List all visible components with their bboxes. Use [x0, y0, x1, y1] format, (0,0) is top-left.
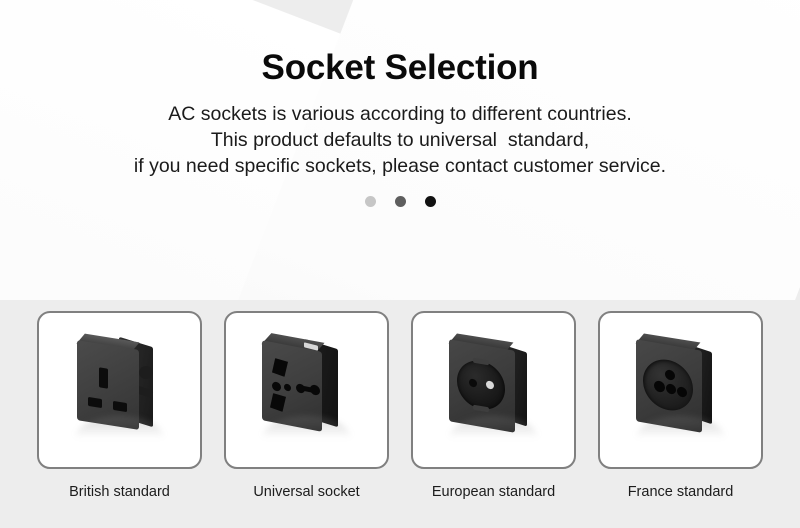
- schuko-socket-icon: [435, 332, 553, 444]
- socket-option-universal[interactable]: Universal socket: [224, 311, 389, 500]
- uk-socket-icon: [61, 332, 179, 444]
- socket-option-france[interactable]: France standard: [598, 311, 763, 500]
- socket-image-stage-france: [600, 313, 761, 467]
- france-socket-icon: [622, 332, 740, 444]
- socket-option-european[interactable]: European standard: [411, 311, 576, 500]
- socket-image-stage-british: [39, 313, 200, 467]
- carousel-dot-2[interactable]: [395, 196, 406, 207]
- socket-option-british[interactable]: British standard: [37, 311, 202, 500]
- socket-card-label-european: European standard: [432, 484, 555, 500]
- socket-card-france[interactable]: [598, 311, 763, 469]
- page-subtitle: AC sockets is various according to diffe…: [0, 101, 800, 179]
- socket-card-label-france: France standard: [628, 484, 734, 500]
- subtitle-line-3: if you need specific sockets, please con…: [0, 153, 800, 179]
- socket-image-stage-european: [413, 313, 574, 467]
- socket-card-european[interactable]: [411, 311, 576, 469]
- socket-image-stage-universal: [226, 313, 387, 467]
- socket-card-label-universal: Universal socket: [253, 484, 359, 500]
- carousel-dot-3[interactable]: [425, 196, 436, 207]
- socket-card-row: British standard: [0, 311, 800, 500]
- page-title: Socket Selection: [0, 48, 800, 88]
- socket-selection-page: Socket Selection AC sockets is various a…: [0, 0, 800, 528]
- subtitle-line-1: AC sockets is various according to diffe…: [0, 101, 800, 127]
- carousel-dot-1[interactable]: [365, 196, 376, 207]
- uk-clip-ring: [139, 366, 153, 379]
- socket-card-universal[interactable]: [224, 311, 389, 469]
- socket-card-british[interactable]: [37, 311, 202, 469]
- socket-card-label-british: British standard: [69, 484, 170, 500]
- subtitle-line-2: This product defaults to universal stand…: [0, 127, 800, 153]
- uk-earth-slot: [99, 367, 108, 388]
- universal-socket-icon: [248, 332, 366, 444]
- carousel-dots: [0, 196, 800, 207]
- header: Socket Selection AC sockets is various a…: [0, 0, 800, 207]
